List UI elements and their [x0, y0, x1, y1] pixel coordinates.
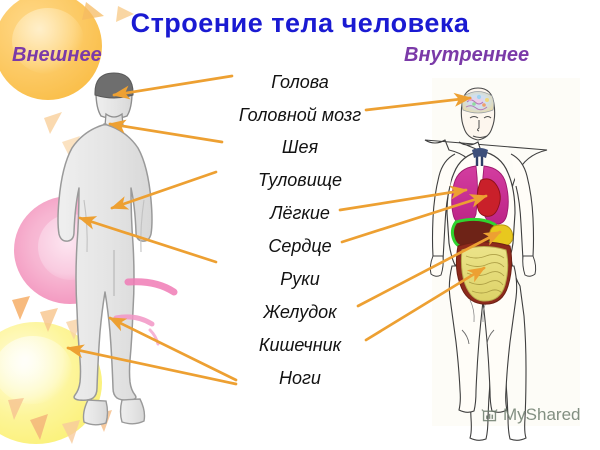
label-kishechnik: Кишечник: [0, 335, 600, 356]
label-serdtse: Сердце: [0, 236, 600, 257]
diagram-canvas: Строение тела человека Внешнее Внутренне…: [0, 0, 600, 450]
label-ruki: Руки: [0, 269, 600, 290]
watermark-text: MyShared: [503, 405, 580, 425]
label-tulovishche: Туловище: [0, 170, 600, 191]
label-lyogkie: Лёгкие: [0, 203, 600, 224]
label-zheludok: Желудок: [0, 302, 600, 323]
label-sheya: Шея: [0, 137, 600, 158]
label-golovnoy-mozg: Головной мозг: [0, 105, 600, 126]
subtitle-internal: Внутреннее: [404, 44, 529, 67]
page-title: Строение тела человека: [0, 8, 600, 39]
label-nogi: Ноги: [0, 368, 600, 389]
subtitle-external: Внешнее: [12, 44, 102, 67]
myshared-icon: [481, 407, 498, 424]
watermark: MyShared: [481, 405, 580, 425]
label-golova: Голова: [0, 72, 600, 93]
